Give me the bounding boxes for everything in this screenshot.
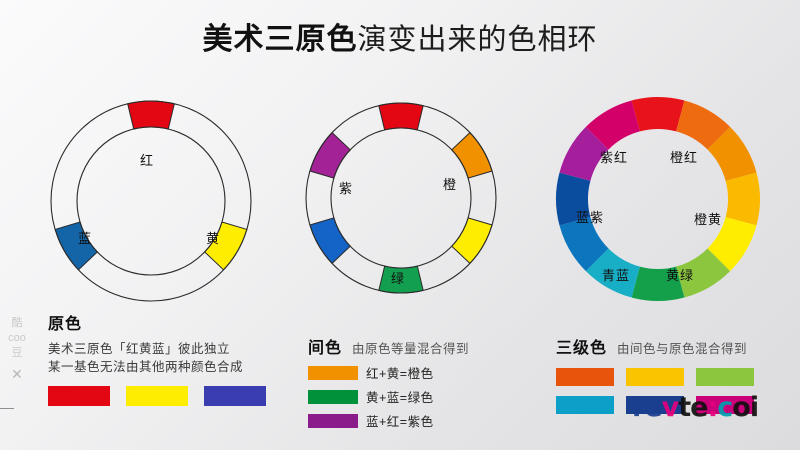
- secondary-legend: 间色 由原色等量混合得到 红+黄=橙色黄+蓝=绿色蓝+红=紫色: [308, 334, 528, 430]
- secondary-wheel-svg: [303, 100, 499, 296]
- tertiary-color-swatch: [696, 368, 754, 386]
- wheel-segment-label: 橙红: [670, 147, 698, 166]
- left-watermark-text: 酷coo豆: [8, 317, 26, 359]
- page-title: 美术三原色演变出来的色相环: [0, 14, 800, 58]
- tertiary-color-swatch: [556, 368, 614, 386]
- secondary-mix-rows: 红+黄=橙色黄+蓝=绿色蓝+红=紫色: [308, 363, 528, 430]
- wheel-segment-label: 黄: [206, 228, 220, 247]
- primary-wheel-svg: [48, 98, 254, 304]
- corner-watermark-icon: [16, 26, 50, 42]
- tertiary-color-swatch: [556, 396, 614, 414]
- page-title-bold: 美术三原色: [202, 23, 357, 56]
- primary-color-wheel: 红黄蓝: [48, 98, 254, 304]
- wheel-segment-label: 蓝: [78, 228, 92, 247]
- wheel-segment: [726, 173, 760, 226]
- primary-color-swatch: [48, 386, 110, 406]
- primary-color-swatch: [126, 386, 188, 406]
- secondary-legend-title: 间色: [308, 334, 342, 358]
- inner-ring-outline: [331, 128, 471, 268]
- primary-swatch-row: [48, 386, 283, 406]
- secondary-mix-row: 蓝+红=紫色: [308, 411, 528, 430]
- wheel-segment-label: 蓝紫: [576, 207, 604, 226]
- tertiary-wheel-segments: [556, 97, 760, 301]
- wheel-segment-label: 青蓝: [602, 265, 630, 284]
- wheel-segment: [379, 103, 423, 130]
- secondary-wheel-segments: [310, 103, 492, 293]
- tertiary-legend-title: 三级色: [556, 334, 607, 358]
- wheel-segment: [632, 97, 685, 131]
- primary-legend-title: 原色: [48, 310, 283, 334]
- tertiary-color-swatch: [626, 368, 684, 386]
- secondary-mix-formula: 红+黄=橙色: [366, 363, 434, 382]
- center-watermark: revte:coi: [632, 392, 758, 423]
- tertiary-legend-subtitle: 由间色与原色混合得到: [617, 338, 747, 357]
- secondary-mix-row: 红+黄=橙色: [308, 363, 528, 382]
- secondary-legend-subtitle: 由原色等量混合得到: [352, 338, 469, 357]
- left-watermark: 酷coo豆 ✕: [6, 316, 28, 382]
- wheel-segment-label: 橙黄: [694, 209, 722, 228]
- page-title-regular: 演变出来的色相环: [357, 24, 597, 56]
- wheel-segment-label: 黄绿: [666, 265, 694, 284]
- secondary-mix-formula: 蓝+红=紫色: [366, 411, 434, 430]
- wheel-segment-label: 红: [140, 150, 154, 169]
- primary-legend: 原色 美术三原色「红黄蓝」彼此独立 某一基色无法由其他两种颜色合成: [48, 310, 283, 406]
- left-watermark-rule: [0, 408, 14, 409]
- primary-legend-line1: 美术三原色「红黄蓝」彼此独立: [48, 340, 283, 358]
- wheel-segment-label: 绿: [391, 268, 405, 287]
- tertiary-wheel-svg: [554, 95, 762, 303]
- secondary-mix-row: 黄+蓝=绿色: [308, 387, 528, 406]
- secondary-color-swatch: [308, 390, 358, 404]
- outer-ring-outline: [306, 103, 496, 293]
- left-watermark-x: ✕: [6, 367, 28, 382]
- outer-ring-outline: [51, 101, 251, 301]
- wheel-segment-label: 紫红: [600, 147, 628, 166]
- primary-legend-line2: 某一基色无法由其他两种颜色合成: [48, 358, 283, 376]
- tertiary-color-wheel: 橙红橙黄黄绿青蓝蓝紫紫红: [554, 95, 762, 303]
- wheel-segment-label: 橙: [443, 174, 457, 193]
- wheel-segment-label: 紫: [339, 178, 353, 197]
- secondary-color-swatch: [308, 414, 358, 428]
- secondary-color-swatch: [308, 366, 358, 380]
- wheel-segment: [128, 101, 175, 129]
- primary-color-swatch: [204, 386, 266, 406]
- secondary-color-wheel: 橙绿紫: [303, 100, 499, 296]
- secondary-mix-formula: 黄+蓝=绿色: [366, 387, 434, 406]
